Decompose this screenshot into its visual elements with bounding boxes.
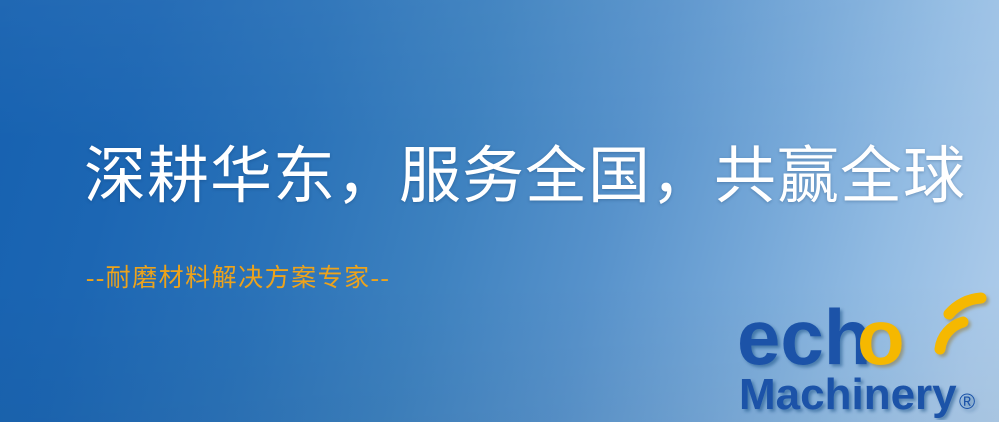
echo-machinery-logo: ech o Machinery ® <box>737 292 995 420</box>
page-subtitle: --耐磨材料解决方案专家-- <box>86 266 390 291</box>
logo-subname: Machinery ® <box>739 370 975 419</box>
logo-o-text: o <box>857 293 905 381</box>
logo-machinery-text: Machinery <box>739 370 957 419</box>
logo-wordmark-blue: ech <box>737 293 871 381</box>
logo-wordmark-gold: o <box>857 293 905 381</box>
signal-arcs-icon <box>940 298 981 349</box>
page-title: 深耕华东，服务全国，共赢全球 <box>84 146 966 208</box>
logo-ech-text: ech <box>737 293 871 381</box>
promo-banner: 深耕华东，服务全国，共赢全球 --耐磨材料解决方案专家-- ech <box>0 0 999 422</box>
registered-trademark-icon: ® <box>959 389 975 414</box>
